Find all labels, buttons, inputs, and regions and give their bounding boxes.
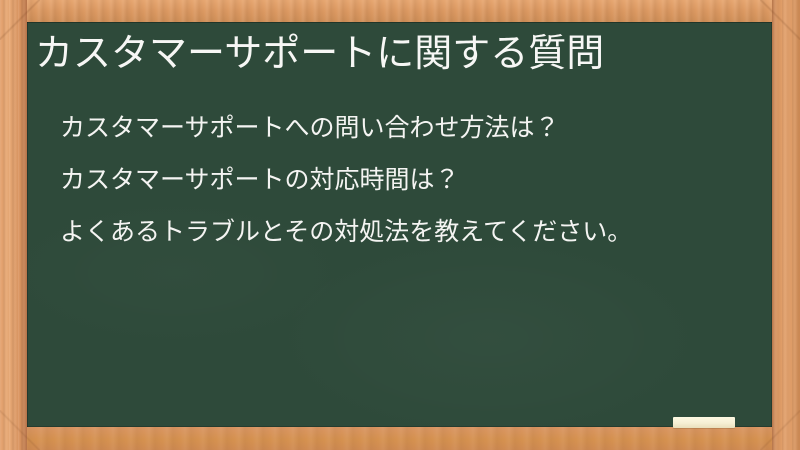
chalkboard-slide: カスタマーサポートに関する質問 カスタマーサポートへの問い合わせ方法は？ カスタ…	[0, 0, 800, 450]
frame-right-rail	[772, 0, 800, 450]
question-list: カスタマーサポートへの問い合わせ方法は？ カスタマーサポートの対応時間は？ よく…	[60, 102, 760, 258]
question-item-1: カスタマーサポートへの問い合わせ方法は？	[60, 102, 760, 154]
slide-title: カスタマーサポートに関する質問	[35, 29, 765, 77]
frame-top-rail	[0, 0, 800, 22]
frame-left-rail	[0, 0, 27, 450]
frame-bottom-ledge	[0, 427, 800, 450]
chalk-stick	[673, 417, 735, 428]
question-item-2: カスタマーサポートの対応時間は？	[60, 154, 760, 206]
question-item-3: よくあるトラブルとその対処法を教えてください。	[60, 206, 760, 258]
chalkboard-surface: カスタマーサポートに関する質問 カスタマーサポートへの問い合わせ方法は？ カスタ…	[27, 22, 772, 427]
